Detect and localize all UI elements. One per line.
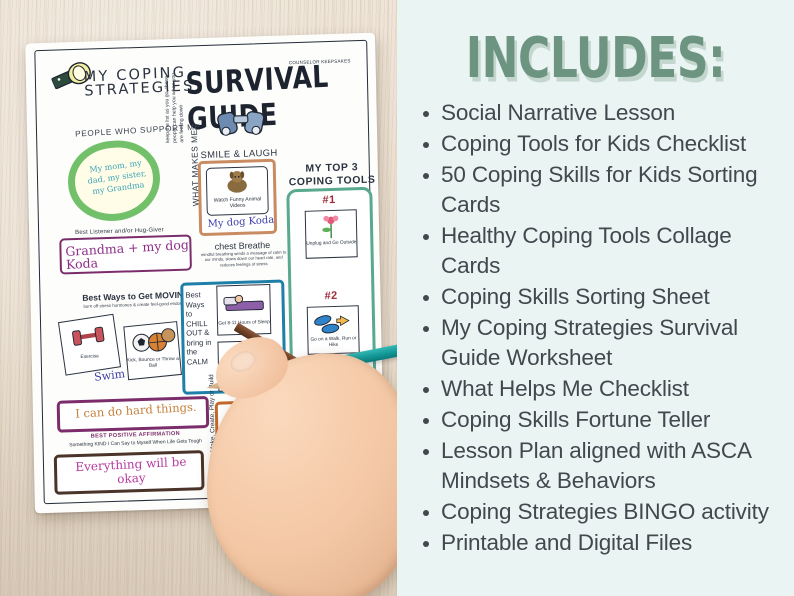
includes-heading: INCLUDES: xyxy=(421,27,770,90)
sports-balls-icon xyxy=(124,322,179,359)
caption-funny-animal-videos: Watch Funny Animal Videos xyxy=(206,196,268,210)
flower-illustration xyxy=(306,210,357,240)
list-item: My Coping Strategies Survival Guide Work… xyxy=(419,313,780,373)
card-unplug-go-outside xyxy=(305,209,358,259)
dumbbell-icon xyxy=(59,315,117,357)
label-chill-out: Best Ways to CHILL OUT & bring in the CA… xyxy=(185,290,213,367)
list-item: Lesson Plan aligned with ASCA Mindsets &… xyxy=(419,436,780,496)
list-item: Healthy Coping Tools Collage Cards xyxy=(419,221,780,281)
includes-list: Social Narrative Lesson Coping Tools for… xyxy=(419,98,780,558)
rank-1: #1 xyxy=(322,194,335,206)
list-item: Coping Strategies BINGO activity xyxy=(419,497,780,527)
support-side-note: keep the list as you go, these people ca… xyxy=(164,65,187,144)
text-chest-breathe: mindful breathing sends a message of cal… xyxy=(198,249,290,268)
list-item: Coping Tools for Kids Checklist xyxy=(419,129,780,159)
list-item: 50 Coping Skills for Kids Sorting Cards xyxy=(419,160,780,220)
caption-go-on-a-walk: Go on a Walk, Run or Hike xyxy=(307,336,359,350)
dog-illustration xyxy=(207,167,268,199)
card-exercise xyxy=(58,314,121,376)
binoculars-icon xyxy=(217,106,268,138)
caption-kick-bounce-throw: Kick, Bounce or Throw a Ball xyxy=(126,357,180,371)
list-item: Coping Skills Fortune Teller xyxy=(419,405,780,435)
includes-panel: INCLUDES: Social Narrative Lesson Coping… xyxy=(397,0,794,596)
product-listing-image: MY COPING STRATEGIES SURVIVAL GUIDE COUN… xyxy=(0,0,794,596)
card-kick-bounce-throw xyxy=(123,321,182,380)
worksheet-title-large: SURVIVAL GUIDE xyxy=(185,57,369,137)
label-my-top-3-coping-tools: MY TOP 3 COPING TOOLS xyxy=(284,160,380,189)
list-item: Social Narrative Lesson xyxy=(419,98,780,128)
list-item: Coping Skills Sorting Sheet xyxy=(419,282,780,312)
list-item: Printable and Digital Files xyxy=(419,528,780,558)
list-item: What Helps Me Checklist xyxy=(419,374,780,404)
product-photo-panel: MY COPING STRATEGIES SURVIVAL GUIDE COUN… xyxy=(0,0,397,596)
label-what-makes-me: WHAT MAKES ME xyxy=(189,129,201,206)
rank-2: #2 xyxy=(324,290,337,302)
sleeping-person-icon xyxy=(217,285,270,315)
answer-moving: Swim xyxy=(94,367,126,384)
shoes-illustration xyxy=(308,306,359,336)
